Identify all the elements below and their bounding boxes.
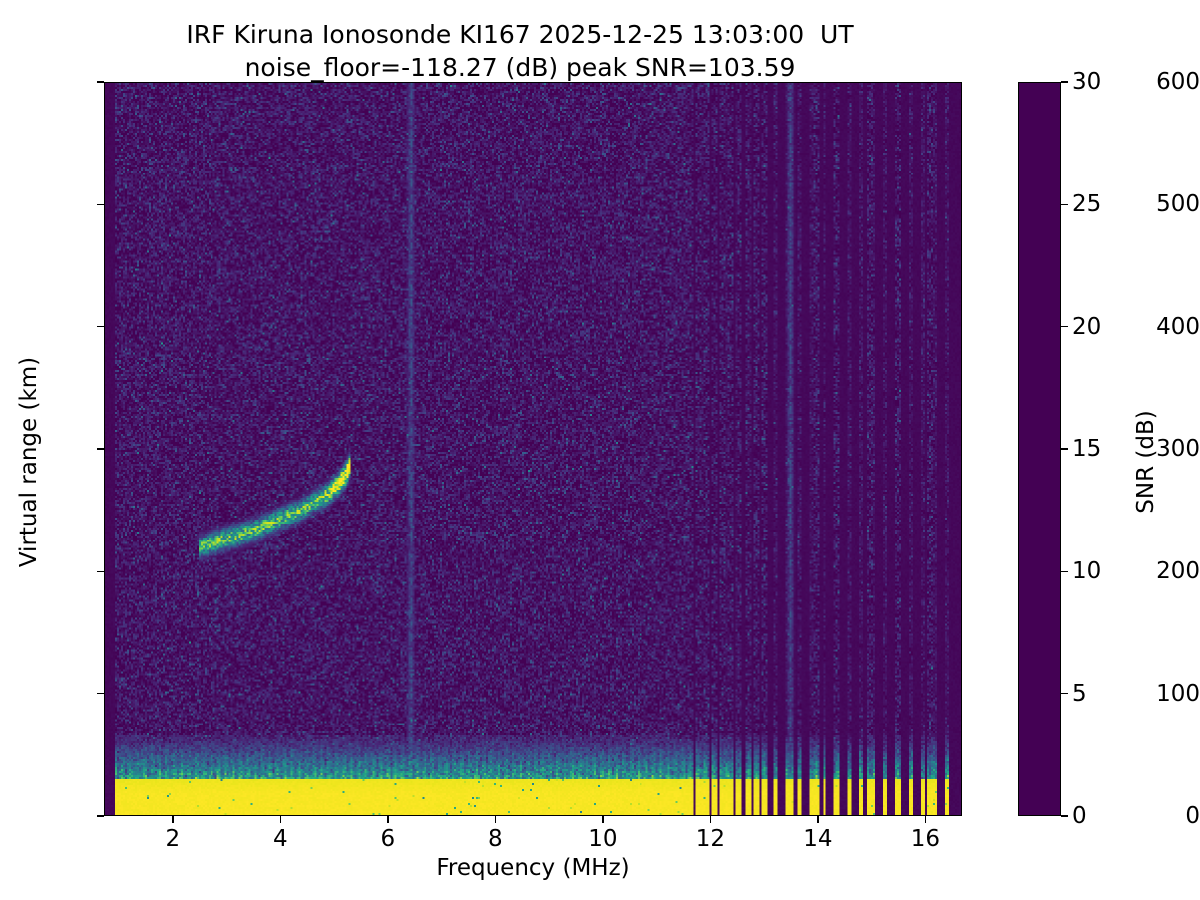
x-tick-mark — [925, 816, 927, 823]
x-tick-label: 6 — [348, 826, 428, 852]
x-tick-mark — [817, 816, 819, 823]
y-tick-mark — [97, 693, 104, 695]
colorbar-tick-mark — [1061, 448, 1068, 450]
y-tick-label: 500 — [1112, 191, 1200, 217]
colorbar-tick-mark — [1061, 815, 1068, 817]
colorbar-tick-label: 10 — [1072, 558, 1101, 584]
y-tick-label: 600 — [1112, 69, 1200, 95]
y-tick-mark — [97, 815, 104, 817]
x-tick-label: 16 — [885, 826, 965, 852]
x-tick-mark — [710, 816, 712, 823]
colorbar-tick-label: 15 — [1072, 436, 1101, 462]
y-tick-mark — [97, 204, 104, 206]
ionogram-heatmap — [105, 83, 961, 815]
figure-title: IRF Kiruna Ionosonde KI167 2025-12-25 13… — [0, 18, 1040, 84]
x-tick-label: 12 — [670, 826, 750, 852]
y-axis-label: Virtual range (km) — [16, 262, 42, 662]
colorbar-tick-mark — [1061, 204, 1068, 206]
y-tick-mark — [97, 448, 104, 450]
x-tick-label: 10 — [563, 826, 643, 852]
x-tick-mark — [602, 816, 604, 823]
colorbar-tick-mark — [1061, 326, 1068, 328]
colorbar-gradient — [1019, 83, 1060, 815]
colorbar-tick-label: 30 — [1072, 69, 1101, 95]
x-tick-label: 8 — [455, 826, 535, 852]
colorbar-tick-label: 25 — [1072, 191, 1101, 217]
title-line-1: IRF Kiruna Ionosonde KI167 2025-12-25 13… — [0, 18, 1040, 51]
colorbar-tick-mark — [1061, 693, 1068, 695]
colorbar-tick-label: 5 — [1072, 681, 1087, 707]
colorbar-tick-mark — [1061, 81, 1068, 83]
ionogram-plot-area[interactable] — [104, 82, 962, 816]
colorbar[interactable] — [1018, 82, 1061, 816]
x-tick-mark — [387, 816, 389, 823]
x-axis-label: Frequency (MHz) — [104, 855, 962, 881]
ionogram-figure: IRF Kiruna Ionosonde KI167 2025-12-25 13… — [0, 0, 1200, 900]
colorbar-tick-label: 20 — [1072, 314, 1101, 340]
x-tick-mark — [280, 816, 282, 823]
colorbar-tick-label: 0 — [1072, 803, 1087, 829]
x-tick-label: 4 — [240, 826, 320, 852]
x-tick-mark — [172, 816, 174, 823]
title-line-2: noise_floor=-118.27 (dB) peak SNR=103.59 — [0, 51, 1040, 84]
y-tick-label: 100 — [1112, 681, 1200, 707]
y-tick-mark — [97, 326, 104, 328]
y-tick-label: 0 — [1112, 803, 1200, 829]
colorbar-label: SNR (dB) — [1133, 262, 1159, 662]
x-tick-label: 14 — [778, 826, 858, 852]
y-tick-mark — [97, 571, 104, 573]
colorbar-tick-mark — [1061, 571, 1068, 573]
y-tick-mark — [97, 81, 104, 83]
x-tick-label: 2 — [133, 826, 213, 852]
x-tick-mark — [495, 816, 497, 823]
